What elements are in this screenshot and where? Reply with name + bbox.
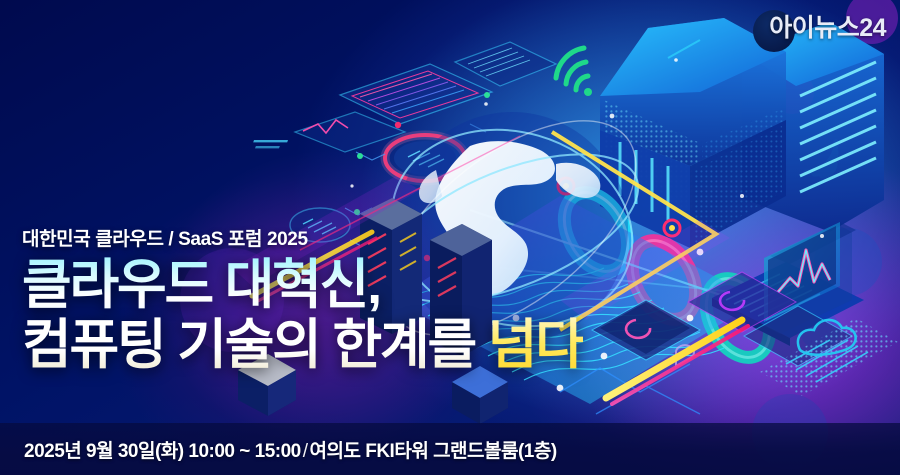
headline-line-1: 클라우드 대혁신,	[22, 255, 380, 315]
event-details-line: 2025년 9월 30일(화) 10:00 ~ 15:00/여의도 FKI타워 …	[24, 436, 557, 463]
event-datetime: 2025년 9월 30일(화) 10:00 ~ 15:00	[24, 441, 301, 462]
headline: 클라우드 대혁신, 컴퓨팅 기술의 한계를 넘다	[22, 258, 583, 373]
hero-copy: 대한민국 클라우드 / SaaS 포럼 2025 클라우드 대혁신, 컴퓨팅 기…	[22, 224, 583, 373]
logo-text: 아이뉴스24	[769, 8, 886, 44]
promo-banner: 아이뉴스24 대한민국 클라우드 / SaaS 포럼 2025 클라우드 대혁신…	[0, 0, 900, 475]
event-details-bar: 2025년 9월 30일(화) 10:00 ~ 15:00/여의도 FKI타워 …	[0, 423, 900, 475]
detail-separator: /	[301, 441, 310, 462]
headline-line-2-white: 컴퓨팅 기술의 한계를	[22, 315, 488, 375]
headline-line-2: 컴퓨팅 기술의 한계를 넘다	[22, 318, 583, 374]
ainews24-logo[interactable]: 아이뉴스24	[769, 8, 886, 44]
headline-line-2-yellow: 넘다	[488, 315, 583, 375]
cloud-server-shape	[600, 18, 884, 248]
event-venue: 여의도 FKI타워 그랜드볼룸(1층)	[310, 441, 557, 462]
event-eyebrow: 대한민국 클라우드 / SaaS 포럼 2025	[22, 224, 583, 251]
